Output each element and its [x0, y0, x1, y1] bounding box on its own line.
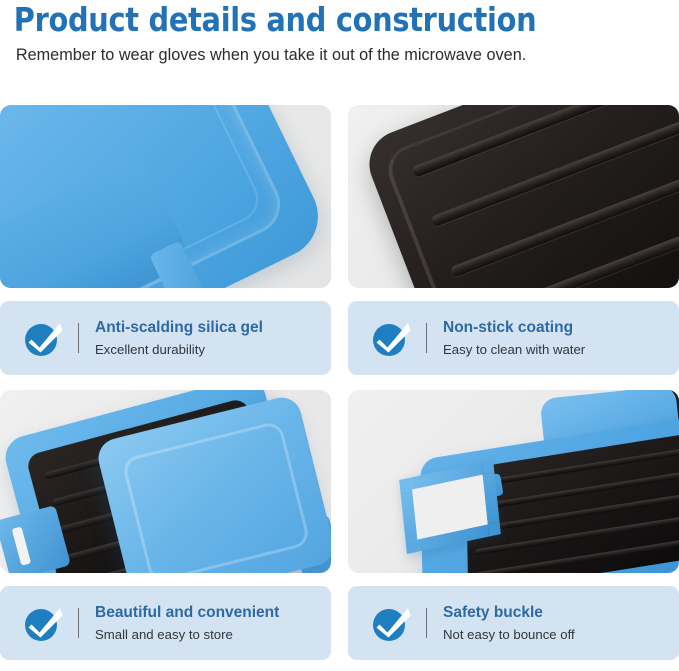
- product-photo-blue-silicone-lid-closeup: [0, 105, 331, 288]
- check-badge-icon: [22, 318, 64, 358]
- caption-subtitle: Not easy to bounce off: [443, 626, 575, 643]
- caption-text: Beautiful and convenient Small and easy …: [95, 603, 279, 643]
- page-header: Product details and construction Remembe…: [0, 0, 679, 65]
- caption-divider: [78, 323, 79, 353]
- caption-subtitle: Easy to clean with water: [443, 341, 585, 358]
- check-badge-icon: [22, 603, 64, 643]
- page-title: Product details and construction: [6, 0, 653, 38]
- page-subtitle: Remember to wear gloves when you take it…: [6, 38, 663, 65]
- cavity-ridge: [476, 538, 679, 573]
- black-plate-shape: [360, 105, 679, 288]
- caption-divider: [426, 323, 427, 353]
- caption-title: Non-stick coating: [443, 318, 585, 337]
- caption-title: Safety buckle: [443, 603, 575, 622]
- caption-subtitle: Small and easy to store: [95, 626, 279, 643]
- caption-text: Non-stick coating Easy to clean with wat…: [443, 318, 585, 358]
- feature-caption-beautiful-convenient: Beautiful and convenient Small and easy …: [0, 586, 331, 660]
- tray-cavity: [466, 432, 679, 573]
- clip-slot: [12, 526, 31, 565]
- product-photo-black-nonstick-ridged-plate-closeup: [348, 105, 679, 288]
- caption-text: Anti-scalding silica gel Excellent durab…: [95, 318, 263, 358]
- product-photo-safety-buckle-closeup: [348, 390, 679, 573]
- feature-block-safety-buckle: Safety buckle Not easy to bounce off: [348, 390, 679, 660]
- feature-caption-anti-scalding: Anti-scalding silica gel Excellent durab…: [0, 301, 331, 375]
- feature-block-non-stick: Non-stick coating Easy to clean with wat…: [348, 105, 679, 375]
- caption-title: Beautiful and convenient: [95, 603, 279, 622]
- buckle-opening: [412, 475, 488, 540]
- check-badge-icon: [370, 603, 412, 643]
- caption-divider: [78, 608, 79, 638]
- feature-block-beautiful-convenient: Beautiful and convenient Small and easy …: [0, 390, 331, 660]
- product-detail-page: Product details and construction Remembe…: [0, 0, 679, 671]
- caption-text: Safety buckle Not easy to bounce off: [443, 603, 575, 643]
- caption-title: Anti-scalding silica gel: [95, 318, 263, 337]
- check-badge-icon: [370, 318, 412, 358]
- product-photo-open-grill-with-blue-lid: [0, 390, 331, 573]
- feature-caption-safety-buckle: Safety buckle Not easy to bounce off: [348, 586, 679, 660]
- feature-caption-non-stick: Non-stick coating Easy to clean with wat…: [348, 301, 679, 375]
- lid-inset-groove: [121, 420, 311, 573]
- cavity-ridges: [474, 439, 679, 573]
- feature-block-anti-scalding: Anti-scalding silica gel Excellent durab…: [0, 105, 331, 375]
- caption-divider: [426, 608, 427, 638]
- caption-subtitle: Excellent durability: [95, 341, 263, 358]
- feature-grid: Anti-scalding silica gel Excellent durab…: [0, 105, 679, 660]
